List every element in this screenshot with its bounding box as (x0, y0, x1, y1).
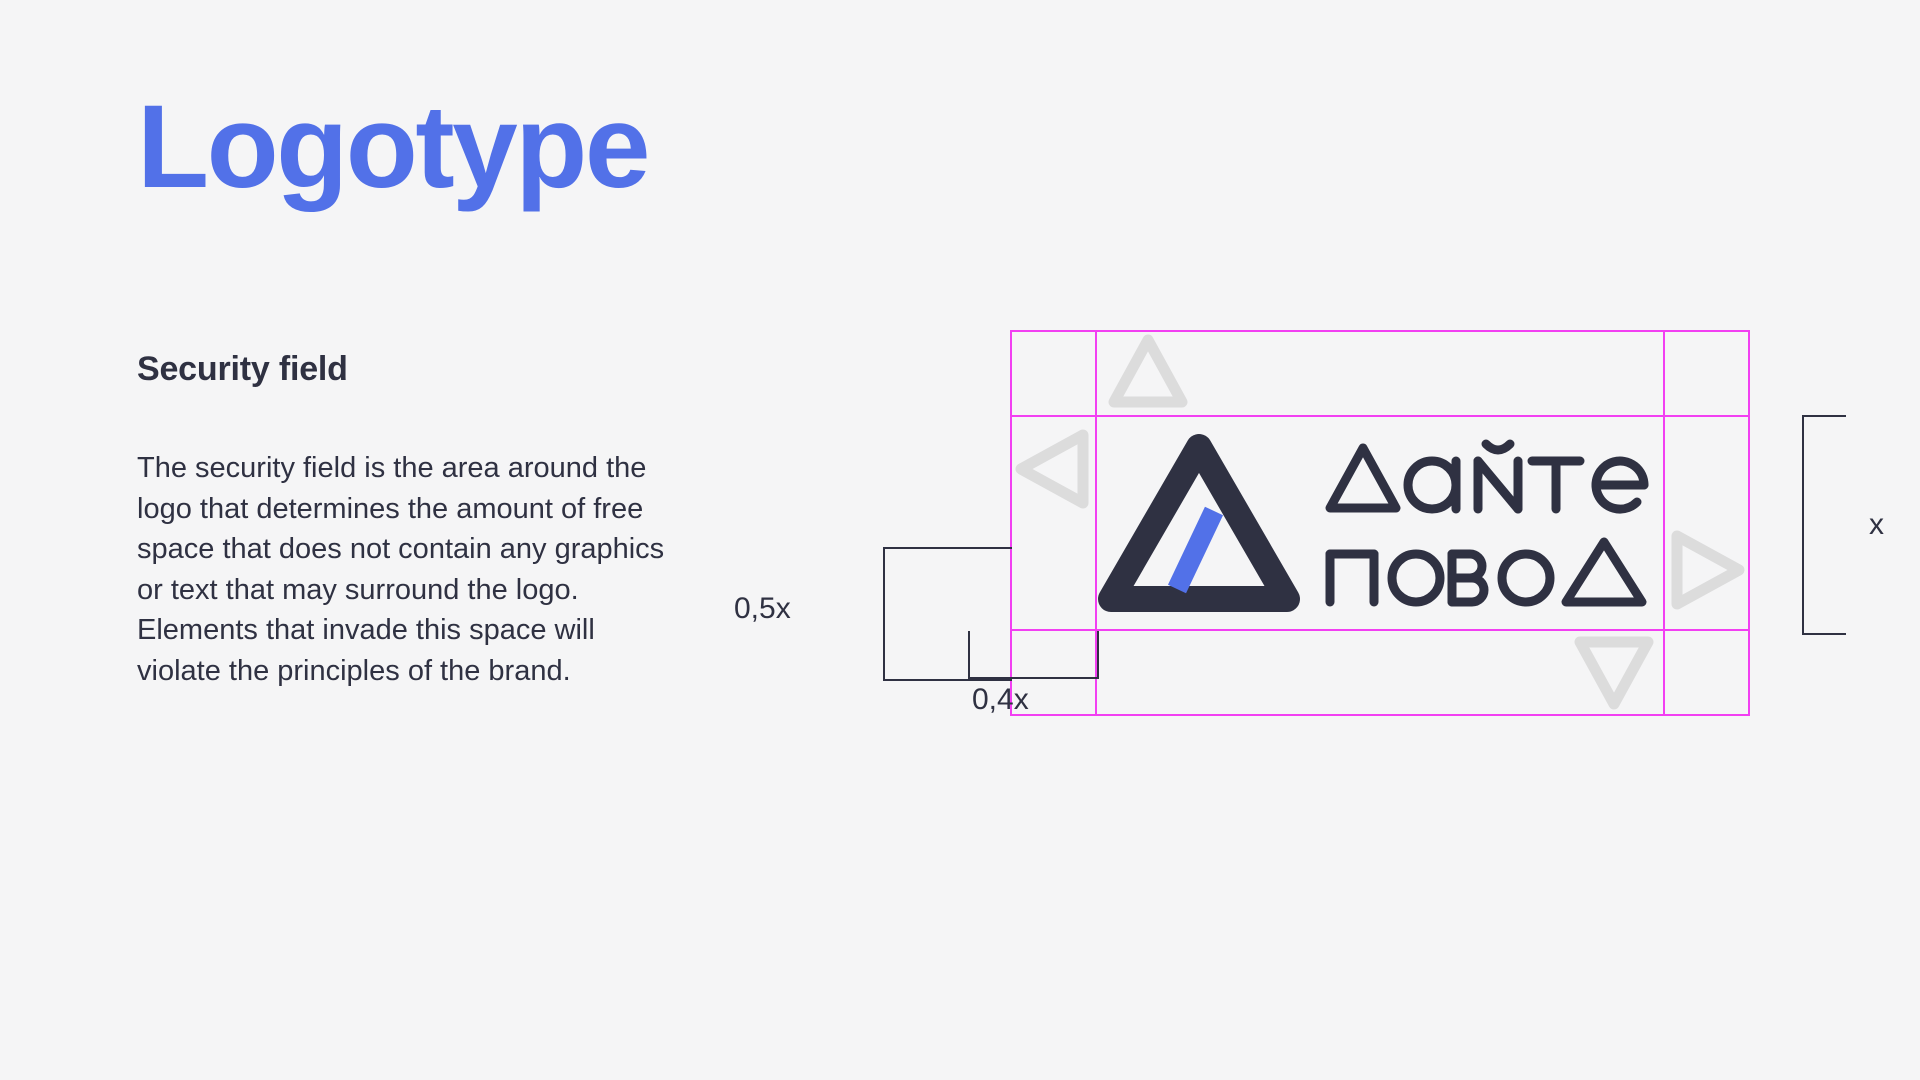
dimension-bracket-04x (968, 631, 1099, 679)
body-line: logo that determines the amount of free (137, 489, 797, 530)
dimension-label-x: x (1869, 508, 1884, 542)
body-line: Elements that invade this space will (137, 610, 797, 651)
section-heading: Security field (137, 350, 348, 389)
content-column: Logotype Security field The security fie… (137, 88, 817, 206)
body-line: or text that may surround the logo. (137, 570, 797, 611)
guide-line-horizontal (1010, 714, 1750, 716)
body-line: The security field is the area around th… (137, 448, 797, 489)
logo-triangle-mark-icon (1097, 433, 1302, 613)
body-line: violate the principles of the brand. (137, 651, 797, 692)
section-body-text: The security field is the area around th… (137, 448, 797, 691)
dimension-label-04x: 0,4x (972, 683, 1029, 717)
dimension-label-half-x: 0,5x (734, 592, 791, 626)
logo-wordmark (1322, 430, 1652, 616)
logo-lockup (1095, 415, 1665, 631)
clearance-triangle-right-icon (1667, 528, 1747, 612)
clearance-triangle-down-icon (1572, 632, 1656, 712)
clearance-triangle-up-icon (1106, 332, 1190, 412)
guide-line-vertical (1748, 330, 1750, 716)
clearance-triangle-left-icon (1013, 427, 1093, 511)
page-title: Logotype (137, 88, 817, 206)
security-field-diagram: x 0,5x 0,4x (1010, 330, 1750, 716)
body-line: space that does not contain any graphics (137, 529, 797, 570)
dimension-bracket-x (1802, 415, 1846, 635)
